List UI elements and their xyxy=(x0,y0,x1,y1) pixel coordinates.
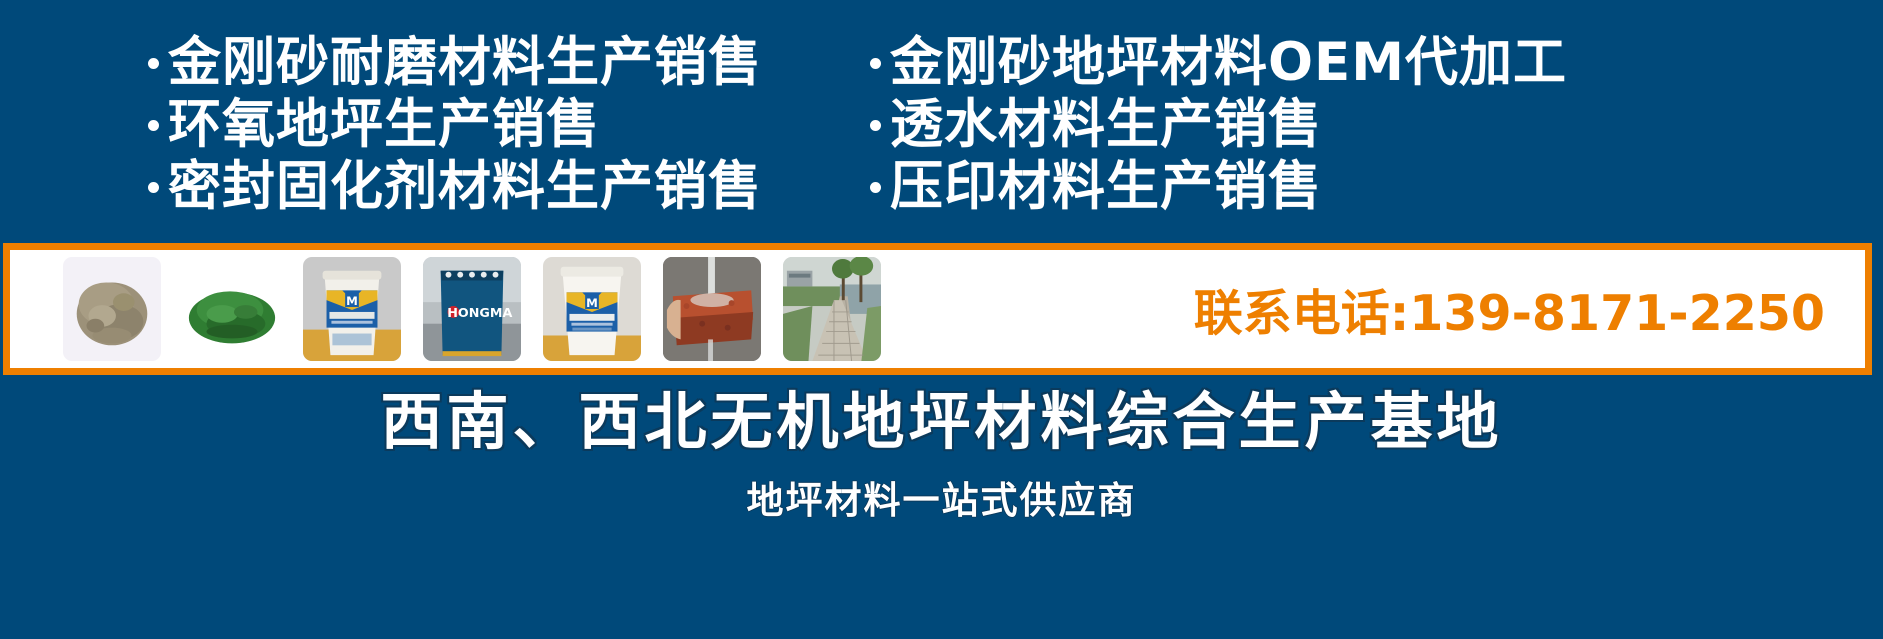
product-photo-panel: M xyxy=(3,243,1872,375)
svg-text:M: M xyxy=(346,294,358,308)
bullet-dot-icon xyxy=(148,182,159,193)
svg-text:HONGMA: HONGMA xyxy=(447,306,512,321)
bullet-dot-icon xyxy=(148,120,159,131)
bullet-item: 金刚砂耐磨材料生产销售 xyxy=(148,32,848,94)
contact-phone[interactable]: 联系电话:139-8171-2250 xyxy=(1194,274,1825,345)
product-photo-sealer-bucket: M xyxy=(303,257,401,361)
bullet-column-left: 金刚砂耐磨材料生产销售 环氧地坪生产销售 密封固化剂材料生产销售 xyxy=(148,32,848,218)
svg-text:M: M xyxy=(586,296,598,310)
product-photo-hongma-blue-drum: HONGMA xyxy=(423,257,521,361)
bullet-label: 金刚砂耐磨材料生产销售 xyxy=(168,32,762,94)
bullet-column-right: 金刚砂地坪材料OEM代加工 透水材料生产销售 压印材料生产销售 xyxy=(870,32,1567,218)
bullet-label: 金刚砂地坪材料OEM代加工 xyxy=(890,32,1567,94)
promo-banner: 金刚砂耐磨材料生产销售 环氧地坪生产销售 密封固化剂材料生产销售 金刚砂地坪材料… xyxy=(0,0,1883,639)
product-photo-grey-abrasive-powder xyxy=(63,257,161,361)
bullet-label: 环氧地坪生产销售 xyxy=(168,94,600,156)
bullet-dot-icon xyxy=(148,58,159,69)
product-photo-permeable-concrete-sample xyxy=(663,257,761,361)
bullet-dot-icon xyxy=(870,120,881,131)
product-photo-stamped-concrete-path xyxy=(783,257,881,361)
bullet-item: 透水材料生产销售 xyxy=(870,94,1567,156)
bullet-label: 密封固化剂材料生产销售 xyxy=(168,156,762,218)
product-photo-epoxy-coating-bucket: M xyxy=(543,257,641,361)
bullet-dot-icon xyxy=(870,58,881,69)
bullet-dot-icon xyxy=(870,182,881,193)
page-subtitle: 地坪材料一站式供应商 xyxy=(0,470,1883,524)
bullet-label: 透水材料生产销售 xyxy=(890,94,1322,156)
bullet-item: 金刚砂地坪材料OEM代加工 xyxy=(870,32,1567,94)
bullet-label: 压印材料生产销售 xyxy=(890,156,1322,218)
product-photo-green-abrasive-powder xyxy=(183,257,281,361)
product-photo-strip: M xyxy=(63,257,881,361)
bullet-item: 压印材料生产销售 xyxy=(870,156,1567,218)
page-title: 西南、西北无机地坪材料综合生产基地 xyxy=(0,380,1883,464)
feature-bullets: 金刚砂耐磨材料生产销售 环氧地坪生产销售 密封固化剂材料生产销售 金刚砂地坪材料… xyxy=(0,32,1883,242)
bullet-item: 密封固化剂材料生产销售 xyxy=(148,156,848,218)
bullet-item: 环氧地坪生产销售 xyxy=(148,94,848,156)
